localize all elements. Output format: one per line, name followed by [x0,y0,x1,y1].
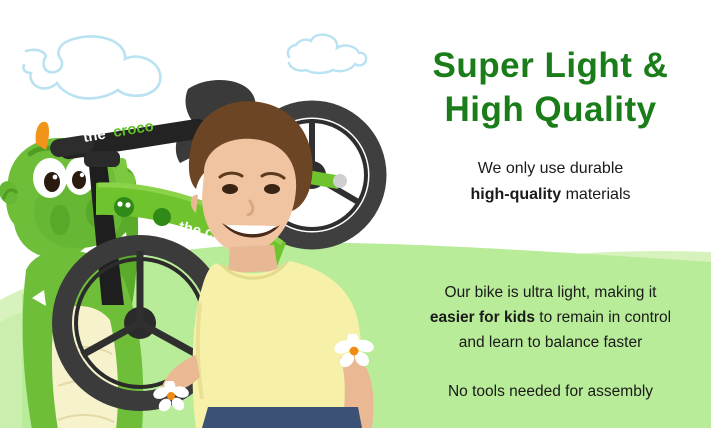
product-photo-boy-with-bike: the croco the cro [40,55,400,428]
subheading: We only use durable high-quality materia… [390,156,711,208]
headline-line-2: High Quality [390,88,711,132]
subheading-line-1: We only use durable [390,156,711,182]
daisy-left-icon [152,381,192,414]
body-copy: Our bike is ultra light, making it easie… [390,280,711,355]
headline: Super Light & High Quality [390,44,711,132]
boy-jeans [202,407,362,428]
subheading-emphasis: high-quality [470,186,561,203]
body-copy-line-2-rest: to remain in control [535,309,671,326]
daisy-right-icon [333,334,377,370]
subheading-line-2-rest: materials [561,186,630,203]
marketing-copy-column: Super Light & High Quality We only use d… [390,0,711,428]
subheading-line-2: high-quality materials [390,182,711,208]
promo-banner: the croco the cro [0,0,711,428]
frame-croc-head-icon [114,197,134,217]
body-copy-line-1: Our bike is ultra light, making it [390,280,711,305]
body-copy-line-2: easier for kids to remain in control [390,305,711,330]
body-copy-line-3: and learn to balance faster [390,330,711,355]
handlebar-brand-the: the [82,126,107,146]
assembly-note: No tools needed for assembly [390,381,711,403]
headline-line-1: Super Light & [390,44,711,88]
body-copy-emphasis: easier for kids [430,309,535,326]
